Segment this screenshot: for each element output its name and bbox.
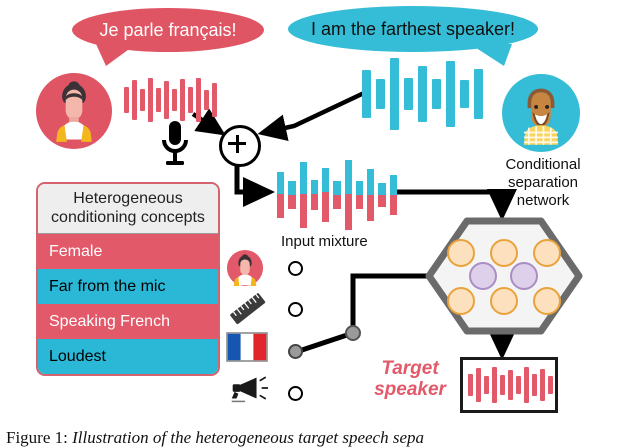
- waveform-bar: [524, 367, 529, 403]
- mixture-bar-top: [300, 162, 307, 194]
- waveform-bar: [164, 81, 169, 119]
- network-hexagon: [425, 217, 583, 335]
- mixture-bar-bottom: [378, 195, 385, 207]
- figure-caption: Figure 1: Illustration of the heterogene…: [6, 428, 618, 448]
- mixture-bar-bottom: [345, 194, 352, 230]
- waveform-bar: [468, 374, 473, 396]
- mixture-bar: [367, 169, 374, 221]
- mixture-bar-bottom: [367, 195, 374, 221]
- waveform-bar: [474, 69, 483, 119]
- mixture-adder-node: [219, 125, 261, 167]
- concept-row-label: Far from the mic: [49, 278, 165, 296]
- waveform-bar: [362, 70, 371, 118]
- concept-row-label: Loudest: [49, 348, 106, 366]
- target-speaker-label-line2: speaker: [374, 379, 446, 400]
- mixture-bar: [356, 181, 363, 209]
- network-node-hidden-2: [510, 262, 538, 290]
- microphone-icon: [159, 120, 191, 168]
- mixture-bar: [322, 168, 329, 222]
- target-speaker-waveform: [468, 366, 553, 404]
- mixture-bar: [333, 181, 340, 209]
- mixture-bar: [390, 175, 397, 215]
- waveform-bar: [500, 375, 505, 395]
- conditioning-switch-knob[interactable]: [345, 325, 361, 341]
- ruler-icon: [227, 290, 269, 328]
- waveform-bar: [484, 376, 489, 394]
- mixture-bar: [378, 183, 385, 207]
- mixture-bar: [300, 162, 307, 228]
- waveform-bar: [212, 83, 217, 117]
- mixture-bar-bottom: [311, 194, 318, 210]
- waveform-bar: [204, 90, 209, 110]
- mixture-bar-bottom: [390, 195, 397, 215]
- mixture-bar-bottom: [277, 194, 284, 218]
- conditional-separation-network: [425, 217, 583, 335]
- waveform-bar: [188, 87, 193, 113]
- speech-bubble-english-text: I am the farthest speaker!: [311, 19, 515, 40]
- french-flag-icon: [226, 332, 268, 362]
- male-speech-waveform: [362, 58, 483, 130]
- female-speaker-avatar: [36, 73, 112, 149]
- male-speaker-avatar: [502, 74, 580, 152]
- waveform-bar: [140, 89, 145, 111]
- waveform-bar: [156, 88, 161, 112]
- concept-row-loudest[interactable]: Loudest: [38, 339, 218, 374]
- input-mixture-waveform: [277, 158, 397, 232]
- mixture-bar-bottom: [288, 195, 295, 209]
- waveform-bar: [132, 80, 137, 120]
- waveform-bar: [540, 369, 545, 401]
- target-speaker-label: Target speaker: [364, 358, 456, 400]
- concept-radio-loudest[interactable]: [288, 386, 303, 401]
- mixture-bar: [277, 172, 284, 218]
- conditional-separation-network-label: Conditional separation network: [488, 156, 598, 210]
- waveform-bar: [492, 367, 497, 403]
- heterogeneous-conditioning-concepts-table: Heterogeneous conditioning concepts Fema…: [36, 182, 220, 376]
- mixture-bar-bottom: [300, 194, 307, 228]
- figure-caption-text: Illustration of the heterogeneous target…: [68, 428, 424, 447]
- network-node-output-1: [447, 287, 475, 315]
- figure-canvas: Je parle français! I am the farthest spe…: [0, 0, 618, 446]
- network-node-input-2: [490, 239, 518, 267]
- waveform-bar: [508, 370, 513, 400]
- mixture-bar-top: [378, 183, 385, 195]
- waveform-bar: [124, 87, 129, 113]
- waveform-bar: [516, 376, 521, 394]
- mixture-bar-top: [277, 172, 284, 194]
- waveform-bar: [172, 89, 177, 111]
- waveform-bar: [476, 368, 481, 402]
- waveform-bar: [148, 78, 153, 122]
- concept-row-speaking-french[interactable]: Speaking French: [38, 304, 218, 339]
- waveform-bar: [418, 66, 427, 122]
- mixture-bar-top: [333, 181, 340, 195]
- mixture-bar-bottom: [322, 192, 329, 222]
- network-node-output-3: [533, 287, 561, 315]
- megaphone-icon: [226, 372, 268, 406]
- female-speech-waveform: [124, 76, 217, 124]
- mixture-bar-top: [322, 168, 329, 192]
- mixture-bar-top: [288, 181, 295, 195]
- waveform-bar: [376, 79, 385, 109]
- waveform-bar: [446, 61, 455, 127]
- waveform-bar: [460, 80, 469, 108]
- waveform-bar: [532, 374, 537, 396]
- waveform-bar: [196, 78, 201, 122]
- speech-bubble-french-text: Je parle français!: [99, 20, 236, 41]
- concept-table-header: Heterogeneous conditioning concepts: [38, 184, 218, 234]
- mixture-bar-top: [311, 180, 318, 194]
- network-node-input-3: [533, 239, 561, 267]
- mixture-bar-top: [356, 181, 363, 195]
- waveform-bar: [180, 79, 185, 121]
- waveform-bar: [404, 78, 413, 110]
- mixture-bar-bottom: [356, 195, 363, 209]
- concept-row-label: Speaking French: [49, 313, 170, 331]
- mixture-bar-top: [345, 160, 352, 194]
- mixture-bar-top: [367, 169, 374, 195]
- mixture-bar-top: [390, 175, 397, 195]
- input-mixture-label: Input mixture: [281, 233, 368, 250]
- mixture-bar-bottom: [333, 195, 340, 209]
- mixture-bar: [345, 160, 352, 230]
- concept-radio-speaking-french[interactable]: [288, 344, 303, 359]
- concept-radio-far-from-the-mic[interactable]: [288, 302, 303, 317]
- concept-row-far-from-the-mic[interactable]: Far from the mic: [38, 269, 218, 304]
- mixture-bar: [288, 181, 295, 209]
- target-speaker-label-line1: Target: [381, 358, 438, 379]
- waveform-bar: [432, 79, 441, 109]
- network-node-output-2: [490, 287, 518, 315]
- female-avatar-icon: [226, 249, 264, 287]
- concept-radio-female[interactable]: [288, 261, 303, 276]
- mixture-bar: [311, 180, 318, 210]
- waveform-bar: [548, 376, 553, 394]
- concept-row-female[interactable]: Female: [38, 234, 218, 269]
- speech-bubble-french-tail: [96, 44, 136, 66]
- network-node-input-1: [447, 239, 475, 267]
- network-node-hidden-1: [469, 262, 497, 290]
- concept-row-label: Female: [49, 243, 102, 261]
- figure-caption-prefix: Figure 1:: [6, 428, 68, 447]
- waveform-bar: [390, 58, 399, 130]
